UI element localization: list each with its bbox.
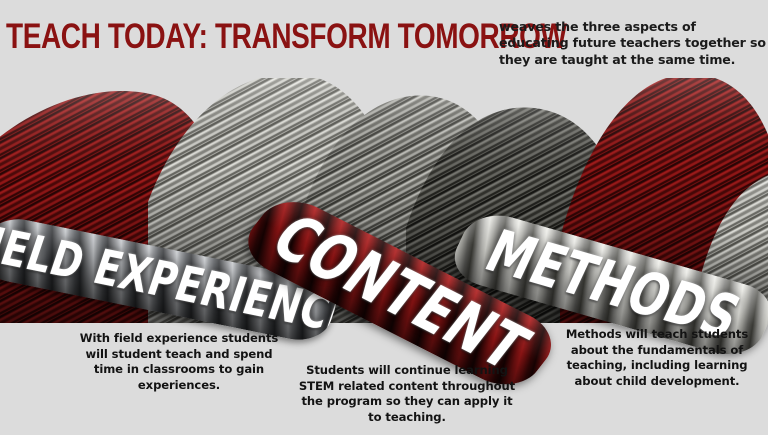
page-title: TEACH TODAY: TRANSFORM TOMORROW <box>6 19 398 55</box>
poster-canvas: TEACH TODAY: TRANSFORM TOMORROW weaves t… <box>0 0 768 435</box>
header-blurb-text: weaves the three aspects of educating fu… <box>499 19 767 68</box>
caption-methods: Methods will teach students about the fu… <box>548 327 766 389</box>
poster-header: TEACH TODAY: TRANSFORM TOMORROW weaves t… <box>0 0 768 85</box>
caption-content: Students will continue learning STEM rel… <box>296 363 518 425</box>
caption-field-experience: With field experience students will stud… <box>70 331 288 393</box>
